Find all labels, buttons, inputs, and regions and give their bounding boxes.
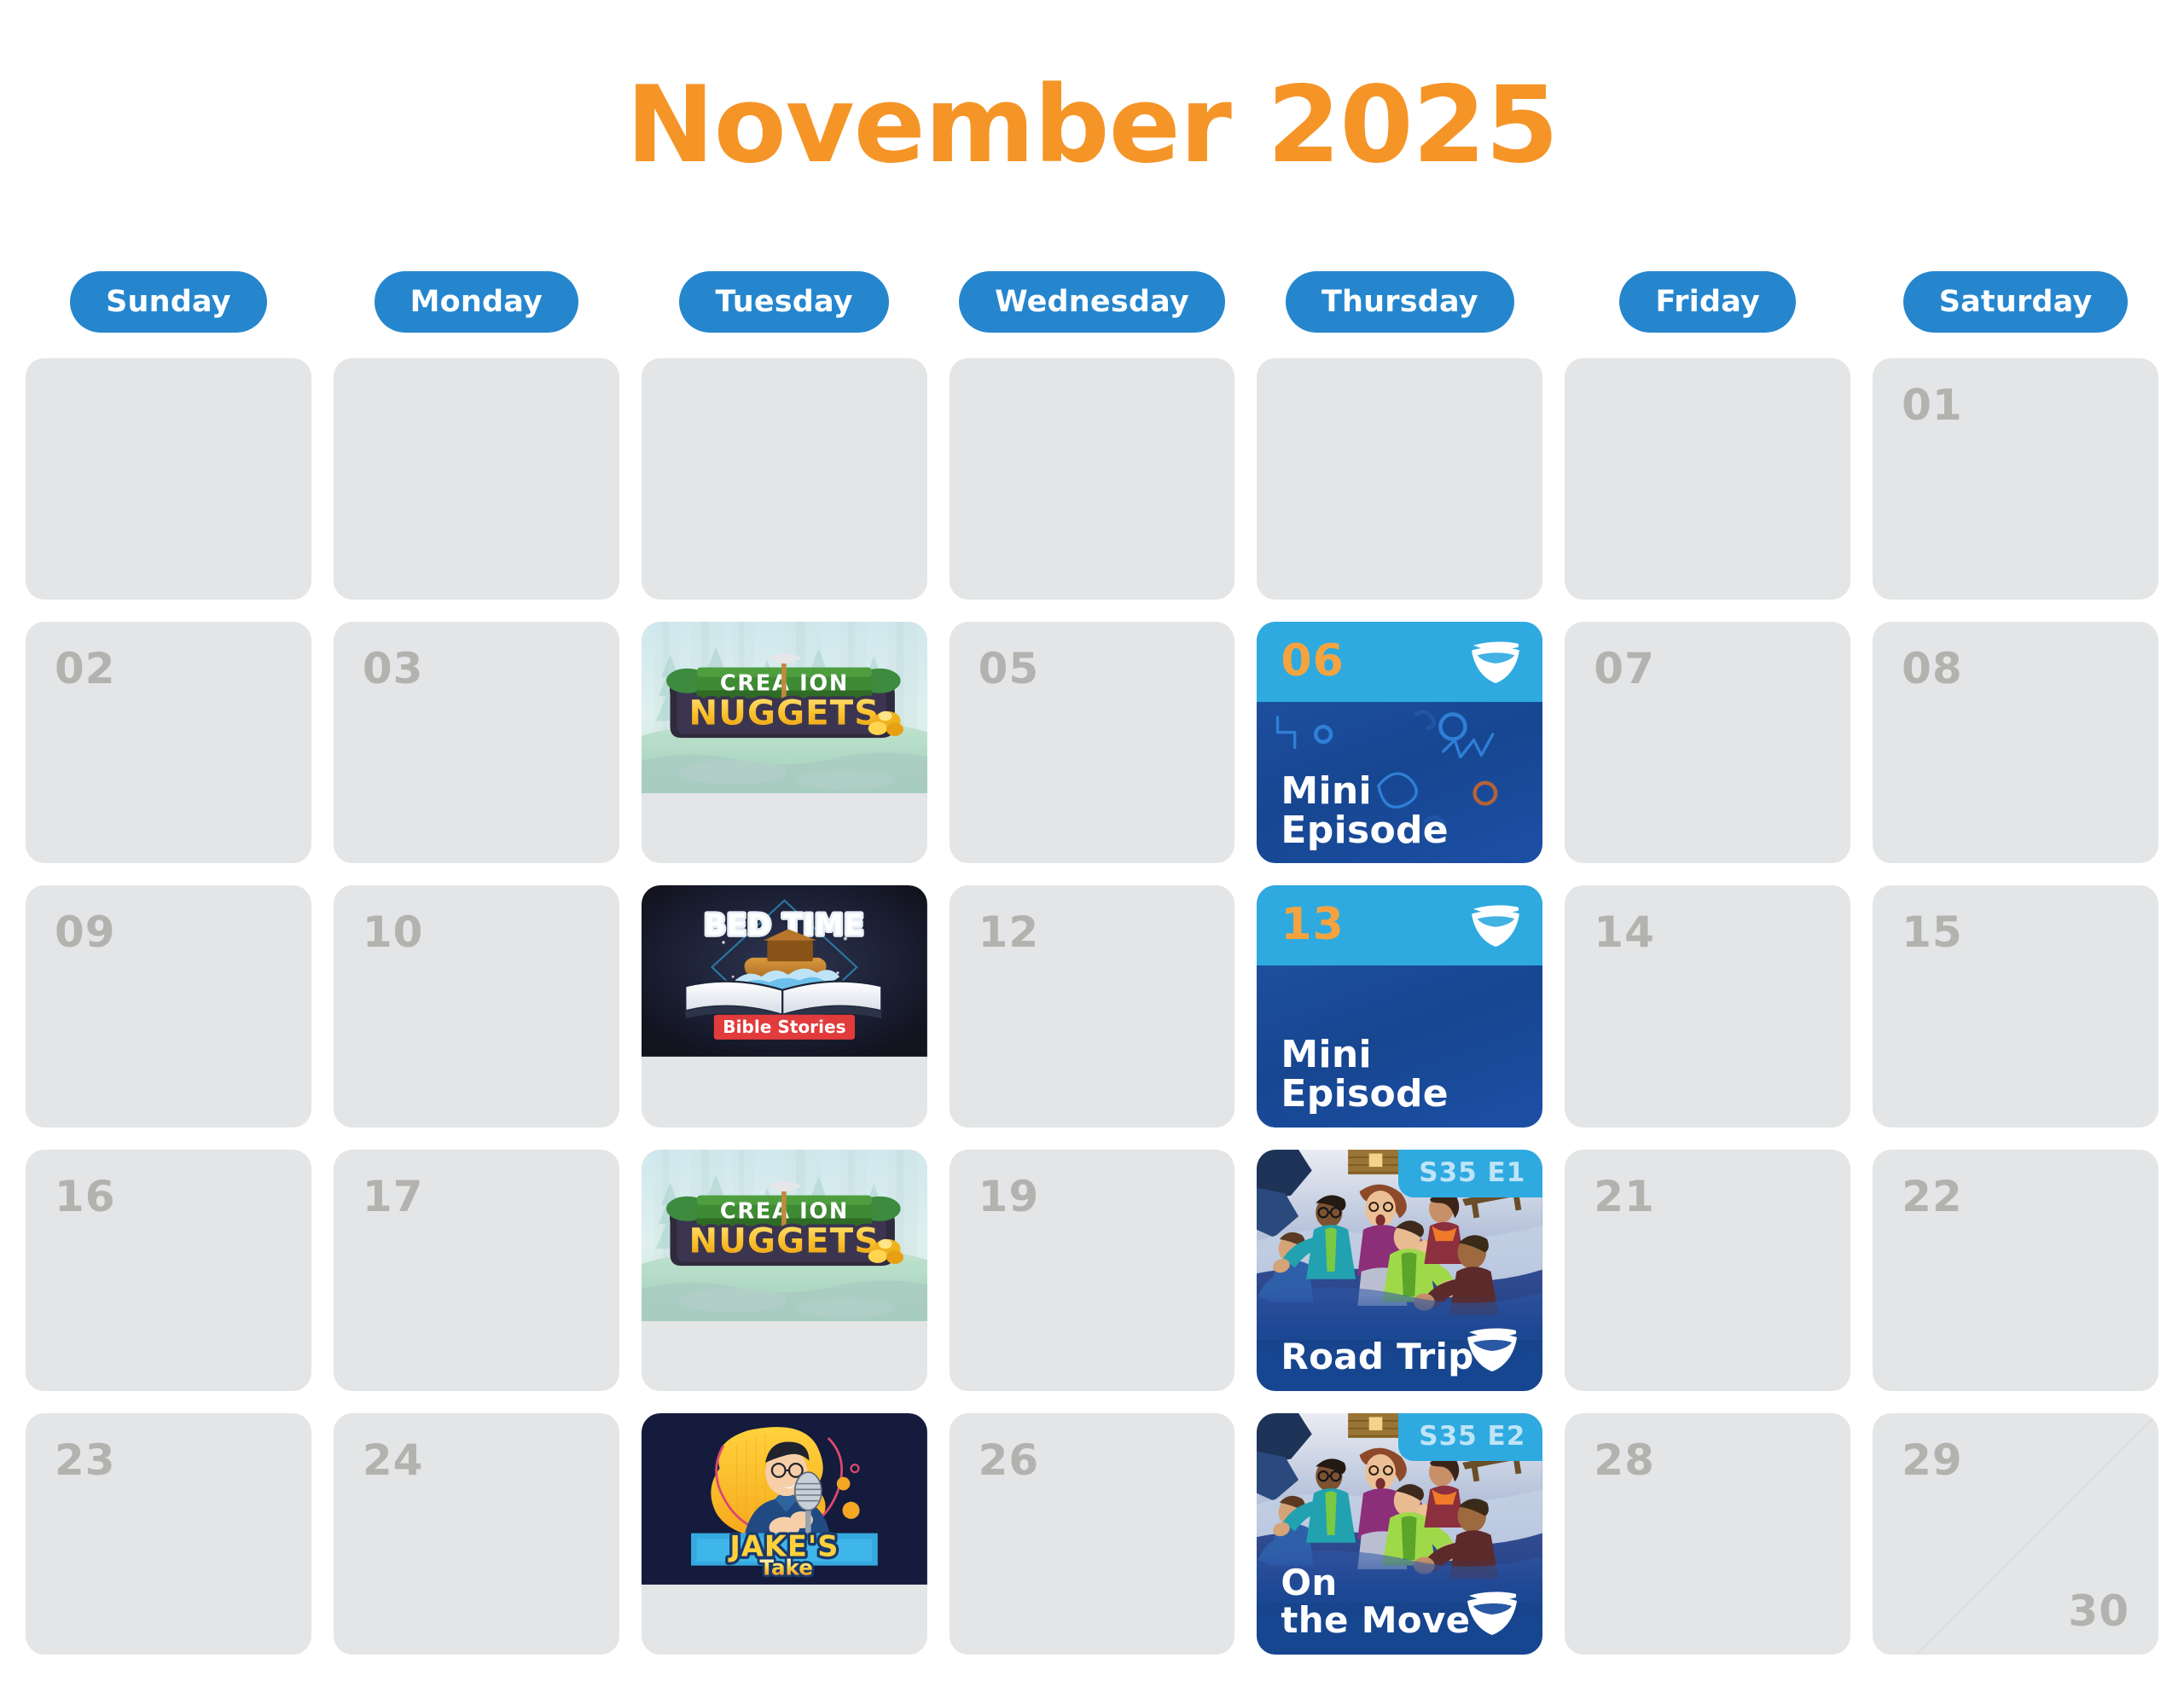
day-number: 28 [1594, 1435, 1655, 1485]
day-cell-23[interactable]: 23 [26, 1413, 311, 1655]
calendar-grid: 010203CREA IONNUGGETSNUGGETS0506Mini Epi… [26, 358, 2158, 1655]
episode-badge: S35 E1 [1398, 1150, 1542, 1197]
weekday-pill-saturday: Saturday [1903, 271, 2129, 333]
calendar-page: November 2025 SundayMondayTuesdayWednesd… [0, 0, 2184, 1687]
episode-badge: S35 E2 [1398, 1413, 1542, 1461]
day-cell-29-30[interactable]: 2930 [1873, 1413, 2158, 1655]
weekday-header-cell: Sunday [26, 271, 311, 333]
jakes-take-tile[interactable]: JAKE'SJAKE'STakeTake [642, 1413, 927, 1655]
day-number: 17 [363, 1172, 424, 1221]
weekday-header-cell: Monday [334, 271, 619, 333]
day-number: 01 [1902, 380, 1963, 430]
mini-episode-body: Mini Episode [1257, 702, 1542, 864]
weekday-pill-sunday: Sunday [70, 271, 267, 333]
day-number: 29 [1902, 1435, 1963, 1485]
weekday-header-cell: Wednesday [950, 271, 1235, 333]
day-number: 14 [1594, 907, 1655, 957]
mini-episode-header: 13 [1257, 885, 1542, 965]
weekday-header-cell: Saturday [1873, 271, 2158, 333]
creation-nuggets-artwork: CREA IONNUGGETSNUGGETS [642, 622, 927, 793]
day-cell-18-creation-nuggets[interactable]: CREA IONNUGGETSNUGGETS [642, 1150, 927, 1391]
day-cell-20-episode[interactable]: S35 E1Road Trip [1257, 1150, 1542, 1391]
wave-shield-logo-icon [1469, 640, 1522, 684]
day-number: 22 [1902, 1172, 1963, 1221]
creation-nuggets-tile[interactable]: CREA IONNUGGETSNUGGETS [642, 1150, 927, 1391]
day-cell-21[interactable]: 21 [1565, 1150, 1850, 1391]
day-number: 08 [1902, 644, 1963, 693]
day-cell-22[interactable]: 22 [1873, 1150, 2158, 1391]
mini-episode-header: 06 [1257, 622, 1542, 701]
day-cell-04-creation-nuggets[interactable]: CREA IONNUGGETSNUGGETS [642, 622, 927, 863]
page-title: November 2025 [0, 70, 2184, 181]
mini-episode-body: Mini Episode [1257, 965, 1542, 1128]
day-cell-13-mini-episode[interactable]: 13Mini Episode [1257, 885, 1542, 1127]
day-number: 23 [55, 1435, 116, 1485]
svg-text:NUGGETS: NUGGETS [688, 1221, 880, 1261]
day-number: 16 [55, 1172, 116, 1221]
day-number: 05 [979, 644, 1040, 693]
day-cell-08[interactable]: 08 [1873, 622, 2158, 863]
day-cell-27-episode[interactable]: S35 E2On the Move [1257, 1413, 1542, 1655]
day-cell-blank [1565, 358, 1850, 600]
wave-shield-logo-icon [1464, 1590, 1520, 1636]
svg-text:Take: Take [759, 1556, 812, 1580]
day-cell-28[interactable]: 28 [1565, 1413, 1850, 1655]
day-cell-17[interactable]: 17 [334, 1150, 619, 1391]
day-number-secondary: 30 [2068, 1586, 2129, 1636]
weekday-header-cell: Tuesday [642, 271, 927, 333]
day-number: 10 [363, 907, 424, 957]
weekday-header-cell: Thursday [1257, 271, 1542, 333]
wave-shield-logo-icon [1464, 1326, 1520, 1372]
weekday-pill-thursday: Thursday [1286, 271, 1514, 333]
day-number: 26 [979, 1435, 1040, 1485]
day-cell-26[interactable]: 26 [950, 1413, 1235, 1655]
day-number: 24 [363, 1435, 424, 1485]
day-cell-blank [26, 358, 311, 600]
episode-tile[interactable]: S35 E2On the Move [1257, 1413, 1542, 1655]
creation-nuggets-artwork: CREA IONNUGGETSNUGGETS [642, 1150, 927, 1321]
day-cell-05[interactable]: 05 [950, 622, 1235, 863]
day-cell-blank [334, 358, 619, 600]
mini-episode-tile[interactable]: 13Mini Episode [1257, 885, 1542, 1127]
day-cell-blank [642, 358, 927, 600]
day-cell-15[interactable]: 15 [1873, 885, 2158, 1127]
bed-time-bible-stories-tile[interactable]: BED TIMEBED TIMEBible Stories [642, 885, 927, 1127]
weekday-header-cell: Friday [1565, 271, 1850, 333]
day-number: 19 [979, 1172, 1040, 1221]
day-number: 12 [979, 907, 1040, 957]
weekday-pill-wednesday: Wednesday [959, 271, 1225, 333]
day-cell-10[interactable]: 10 [334, 885, 619, 1127]
day-number: 13 [1281, 899, 1344, 950]
day-cell-11-bed-time-bible-stories[interactable]: BED TIMEBED TIMEBible Stories [642, 885, 927, 1127]
day-cell-02[interactable]: 02 [26, 622, 311, 863]
day-number: 09 [55, 907, 116, 957]
day-number: 15 [1902, 907, 1963, 957]
wave-shield-logo-icon [1469, 903, 1522, 948]
day-cell-25-jakes-take[interactable]: JAKE'SJAKE'STakeTake [642, 1413, 927, 1655]
mini-episode-title: Mini Episode [1281, 1035, 1449, 1114]
weekday-header-row: SundayMondayTuesdayWednesdayThursdayFrid… [26, 271, 2158, 333]
day-cell-14[interactable]: 14 [1565, 885, 1850, 1127]
day-number: 02 [55, 644, 116, 693]
day-cell-19[interactable]: 19 [950, 1150, 1235, 1391]
day-cell-16[interactable]: 16 [26, 1150, 311, 1391]
day-number: 03 [363, 644, 424, 693]
episode-title: Road Trip [1281, 1338, 1473, 1376]
day-cell-01[interactable]: 01 [1873, 358, 2158, 600]
episode-title: On the Move [1281, 1564, 1470, 1639]
day-cell-blank [950, 358, 1235, 600]
jakes-take-artwork: JAKE'SJAKE'STakeTake [642, 1413, 927, 1585]
day-cell-09[interactable]: 09 [26, 885, 311, 1127]
day-cell-07[interactable]: 07 [1565, 622, 1850, 863]
svg-text:Bible Stories: Bible Stories [723, 1017, 845, 1037]
episode-tile[interactable]: S35 E1Road Trip [1257, 1150, 1542, 1391]
day-number: 21 [1594, 1172, 1655, 1221]
day-cell-blank [1257, 358, 1542, 600]
mini-episode-tile[interactable]: 06Mini Episode [1257, 622, 1542, 863]
svg-text:NUGGETS: NUGGETS [688, 694, 880, 733]
weekday-pill-monday: Monday [375, 271, 578, 333]
day-cell-24[interactable]: 24 [334, 1413, 619, 1655]
day-cell-12[interactable]: 12 [950, 885, 1235, 1127]
day-cell-03[interactable]: 03 [334, 622, 619, 863]
day-number: 07 [1594, 644, 1655, 693]
creation-nuggets-tile[interactable]: CREA IONNUGGETSNUGGETS [642, 622, 927, 863]
mini-episode-title: Mini Episode [1281, 772, 1449, 850]
weekday-pill-tuesday: Tuesday [679, 271, 888, 333]
day-cell-06-mini-episode[interactable]: 06Mini Episode [1257, 622, 1542, 863]
bed-time-bible-stories-artwork: BED TIMEBED TIMEBible Stories [642, 885, 927, 1057]
day-number: 06 [1281, 635, 1344, 687]
weekday-pill-friday: Friday [1619, 271, 1796, 333]
